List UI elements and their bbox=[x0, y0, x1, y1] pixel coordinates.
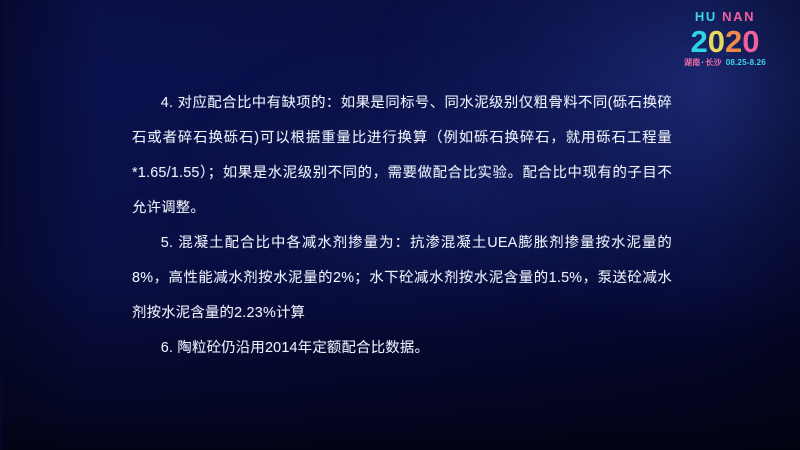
event-logo: HU NAN 2020 湖南·长沙08.25-8.26 bbox=[662, 10, 788, 67]
logo-year-digit-4: 0 bbox=[742, 26, 759, 57]
paragraph-item-5: 5. 混凝土配合比中各减水剂掺量为：抗渗混凝土UEA膨胀剂掺量按水泥量的8%，高… bbox=[132, 226, 672, 331]
logo-subtitle-date: 08.25-8.26 bbox=[722, 58, 766, 67]
paragraph-item-6: 6. 陶粒砼仍沿用2014年定额配合比数据。 bbox=[132, 331, 672, 366]
logo-year-digit-3: 2 bbox=[725, 26, 742, 57]
logo-title-nan: NAN bbox=[722, 9, 755, 24]
slide-body-text: 4. 对应配合比中有缺项的：如果是同标号、同水泥级别仅粗骨料不同(砾石换碎石或者… bbox=[132, 86, 672, 366]
logo-title-hu: HU bbox=[695, 9, 717, 24]
paragraph-item-4: 4. 对应配合比中有缺项的：如果是同标号、同水泥级别仅粗骨料不同(砾石换碎石或者… bbox=[132, 86, 672, 226]
logo-year-digit-1: 2 bbox=[691, 26, 708, 57]
logo-subtitle: 湖南·长沙08.25-8.26 bbox=[662, 59, 788, 67]
logo-title-hunan: HU NAN bbox=[662, 10, 788, 23]
slide-canvas: HU NAN 2020 湖南·长沙08.25-8.26 4. 对应配合比中有缺项… bbox=[0, 0, 800, 450]
logo-subtitle-province: 湖南 bbox=[684, 58, 700, 67]
logo-subtitle-city: 长沙 bbox=[705, 58, 721, 67]
logo-year-digit-2: 0 bbox=[708, 26, 725, 57]
logo-year: 2020 bbox=[662, 26, 788, 57]
background-left-edge bbox=[0, 0, 4, 450]
